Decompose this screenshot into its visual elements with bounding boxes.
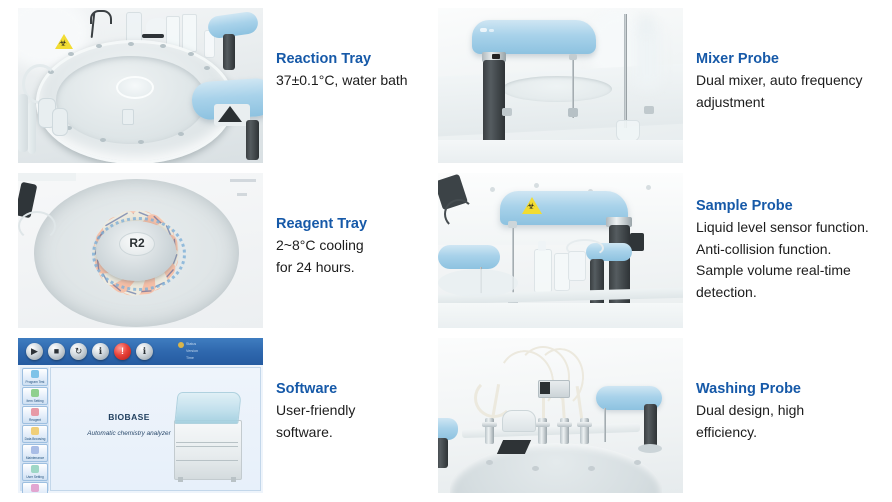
maintenance-icon: [31, 446, 39, 454]
caption-mixer-probe: Mixer Probe Dual mixer, auto frequency a…: [696, 8, 892, 113]
sample-probe-photo: [438, 173, 683, 328]
status-line-3: Time: [186, 355, 258, 362]
desc-sample-probe-line-2: Anti-collision function.: [696, 239, 892, 261]
title-sample-probe: Sample Probe: [696, 197, 892, 216]
refresh-button[interactable]: ↻: [70, 343, 87, 360]
feature-reaction-tray: Reaction Tray 37±0.1°C, water bath: [18, 8, 491, 163]
desc-mixer-probe-line-1: Dual mixer, auto frequency: [696, 70, 892, 92]
title-mixer-probe: Mixer Probe: [696, 50, 892, 69]
sidebar-item-4[interactable]: Data Browsing: [22, 425, 48, 443]
sidebar-item-3[interactable]: Reagent: [22, 406, 48, 424]
feature-sample-probe: Sample Probe Liquid level sensor functio…: [438, 173, 892, 328]
program-test-icon: [31, 370, 39, 378]
title-washing-probe: Washing Probe: [696, 380, 892, 399]
alarm-button[interactable]: !: [114, 343, 131, 360]
software-content-panel: BIOBASE Automatic chemistry analyzer: [50, 367, 261, 491]
gear-icon: [178, 342, 184, 348]
reagent-tray-photo: R2: [18, 173, 263, 328]
feature-reagent-tray: R2 Reagent Tray 2~8°C cooling for 24 hou…: [18, 173, 491, 328]
run-button[interactable]: ▶: [26, 343, 43, 360]
software-status-block: Status Version Time: [186, 341, 258, 362]
desc-sample-probe-line-3: Sample volume real-time: [696, 260, 892, 282]
operation-icon: [31, 484, 39, 492]
data-browsing-icon: [31, 427, 39, 435]
analyzer-illustration: [170, 386, 244, 482]
caption-washing-probe: Washing Probe Dual design, high efficien…: [696, 338, 892, 443]
feature-mixer-probe: Mixer Probe Dual mixer, auto frequency a…: [438, 8, 892, 163]
washing-valve-3: [560, 418, 569, 444]
product-feature-grid: Reaction Tray 37±0.1°C, water bath: [0, 0, 892, 502]
mixer-arm: [472, 20, 596, 54]
mixer-probe-photo: [438, 8, 683, 163]
washing-valve-2: [538, 418, 547, 444]
feature-washing-probe: Washing Probe Dual design, high efficien…: [438, 338, 892, 493]
desc-mixer-probe-line-2: adjustment: [696, 92, 892, 114]
sidebar-item-7[interactable]: Operation: [22, 482, 48, 493]
washing-valve-4: [580, 418, 589, 444]
sidebar-item-5[interactable]: Maintenance: [22, 444, 48, 462]
sidebar-item-6[interactable]: User Setting: [22, 463, 48, 481]
washing-valve-1: [485, 418, 494, 444]
biohazard-icon: [522, 197, 542, 214]
washing-probe-photo: [438, 338, 683, 493]
stop-button[interactable]: ■: [48, 343, 65, 360]
desc-washing-probe-line-2: efficiency.: [696, 422, 892, 444]
item-setting-icon: [31, 389, 39, 397]
software-sidebar: Program Test Item Setting Reagent Data B…: [20, 367, 49, 491]
desc-washing-probe-line-1: Dual design, high: [696, 400, 892, 422]
caption-sample-probe: Sample Probe Liquid level sensor functio…: [696, 173, 892, 303]
sidebar-item-2[interactable]: Item Setting: [22, 387, 48, 405]
biobase-logo: BIOBASE: [73, 412, 185, 422]
status-line-2: Version: [186, 348, 258, 355]
desc-sample-probe-line-4: detection.: [696, 282, 892, 304]
reagent-icon: [31, 408, 39, 416]
reaction-tray-photo: [18, 8, 263, 163]
desc-sample-probe-line-1: Liquid level sensor function.: [696, 217, 892, 239]
software-toolbar: ▶ ■ ↻ ℹ ! ℹ Status Version Time: [18, 338, 263, 365]
biohazard-icon: [55, 34, 73, 49]
user-setting-icon: [31, 465, 39, 473]
sidebar-item-1[interactable]: Program Test: [22, 368, 48, 386]
feature-software: ▶ ■ ↻ ℹ ! ℹ Status Version Time: [18, 338, 491, 493]
status-line-1: Status: [186, 341, 258, 348]
help-button[interactable]: ℹ: [136, 343, 153, 360]
software-screenshot: ▶ ■ ↻ ℹ ! ℹ Status Version Time: [18, 338, 263, 493]
info-button[interactable]: ℹ: [92, 343, 109, 360]
